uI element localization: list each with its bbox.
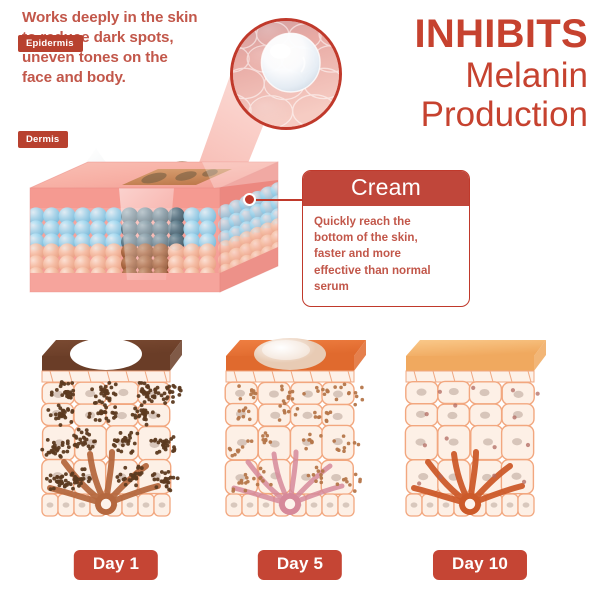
melanin-granule xyxy=(147,391,151,395)
melanin-granule xyxy=(66,407,70,411)
melanin-granule xyxy=(245,476,249,480)
melanin-granule xyxy=(252,396,256,400)
melanin-granule xyxy=(119,473,123,477)
melanin-granule xyxy=(114,411,118,415)
melanin-granule xyxy=(287,396,291,400)
melanin-granule xyxy=(252,389,256,393)
melanin-granule xyxy=(49,474,53,478)
melanin-granule xyxy=(342,449,346,453)
melanin-granule xyxy=(77,478,81,482)
melanin-granule xyxy=(63,484,67,488)
melanin-granule xyxy=(345,480,349,484)
melanin-granule xyxy=(133,442,137,446)
melanin-granule xyxy=(250,439,254,443)
melanin-granule xyxy=(256,483,260,487)
melanin-granule xyxy=(119,450,123,454)
melanin-granule xyxy=(307,474,311,478)
melanin-granule xyxy=(93,401,97,405)
melanin-granule xyxy=(171,449,175,453)
cream-callout-card: Cream Quickly reach the bottom of the sk… xyxy=(302,170,470,307)
melanin-granule xyxy=(282,409,286,413)
skin-layers-svg xyxy=(32,326,200,542)
melanin-granule xyxy=(445,436,449,440)
melanin-granule xyxy=(143,413,147,417)
melanin-granule xyxy=(171,400,175,404)
melanin-granule xyxy=(312,473,316,477)
melanin-granule xyxy=(143,400,147,404)
melanin-granule xyxy=(146,384,150,388)
melanin-granule xyxy=(46,408,50,412)
melanin-granule xyxy=(171,384,175,388)
day-panel: Day 1 xyxy=(32,326,200,542)
melanin-granule xyxy=(64,472,68,476)
melanin-granule xyxy=(52,487,56,491)
melanin-granule xyxy=(137,394,141,398)
melanin-granule xyxy=(321,469,325,473)
melanin-granule xyxy=(50,390,54,394)
melanin-granule xyxy=(342,434,346,438)
melanin-granule xyxy=(73,475,77,479)
skin-layer-illustration xyxy=(32,326,200,542)
melanin-granule xyxy=(238,409,242,413)
melanin-granule xyxy=(347,391,351,395)
melanin-granule xyxy=(280,388,284,392)
melanin-granule xyxy=(149,439,153,443)
melanin-granule xyxy=(319,481,323,485)
melanin-granule xyxy=(264,431,268,435)
melanin-granule xyxy=(316,389,320,393)
melanin-granule xyxy=(71,409,75,413)
melanin-granule xyxy=(321,388,325,392)
melanin-granule xyxy=(237,481,241,485)
melanin-granule xyxy=(71,487,75,491)
melanin-granule xyxy=(160,470,164,474)
melanin-granule xyxy=(522,480,526,484)
melanin-granule xyxy=(105,396,109,400)
melanin-granule xyxy=(308,433,312,437)
melanin-granule xyxy=(287,410,291,414)
melanin-granule xyxy=(332,439,336,443)
melanin-granule xyxy=(283,402,287,406)
intro-line-1: Works deeply in the skin xyxy=(22,8,232,28)
melanin-granule xyxy=(54,417,58,421)
headline-line-production: Production xyxy=(308,95,588,134)
melanin-granule xyxy=(171,390,175,394)
melanin-granule xyxy=(94,394,98,398)
melanin-granule xyxy=(353,489,357,493)
melanin-granule xyxy=(316,469,320,473)
melanin-granule xyxy=(99,411,103,415)
melanin-granule xyxy=(104,389,108,393)
melanin-granule xyxy=(57,404,61,408)
melanin-granule xyxy=(291,390,295,394)
melanin-granule xyxy=(138,473,142,477)
melanin-granule xyxy=(296,407,300,411)
melanin-granule xyxy=(343,446,347,450)
melanin-granule xyxy=(163,401,167,405)
melanin-granule xyxy=(156,414,160,418)
day-panel: Day 5 xyxy=(216,326,384,542)
melanin-granule xyxy=(526,443,530,447)
melanin-granule xyxy=(62,414,66,418)
melanin-granule xyxy=(82,477,86,481)
melanin-granule xyxy=(348,483,352,487)
melanin-granule xyxy=(87,444,91,448)
melanin-granule xyxy=(78,437,82,441)
melanin-granule xyxy=(109,386,113,390)
melanin-granule xyxy=(326,390,330,394)
melanin-granule xyxy=(336,482,340,486)
melanin-granule xyxy=(85,432,89,436)
melanin-granule xyxy=(140,387,144,391)
headline-line-inhibits: INHIBITS xyxy=(308,14,588,54)
melanin-granule xyxy=(323,392,327,396)
melanin-granule xyxy=(143,381,147,385)
melanin-granule xyxy=(87,415,91,419)
melanin-granule xyxy=(60,475,64,479)
melanin-granule xyxy=(165,397,169,401)
melanin-granule xyxy=(65,394,69,398)
melanin-granule xyxy=(471,386,475,390)
melanin-granule xyxy=(61,441,65,445)
melanin-granule xyxy=(67,445,71,449)
cream-body-line-1: Quickly reach the xyxy=(314,214,458,230)
melanin-granule xyxy=(119,431,123,435)
melanin-granule xyxy=(176,476,180,480)
melanin-granule xyxy=(140,403,144,407)
melanin-granule xyxy=(261,479,265,483)
melanin-granule xyxy=(54,412,58,416)
layer-label-dermis: Dermis xyxy=(18,131,68,148)
melanin-granule xyxy=(52,477,56,481)
melanin-granule xyxy=(353,441,357,445)
skin-layers-svg xyxy=(216,326,384,542)
melanin-granule xyxy=(177,393,181,397)
melanin-granule xyxy=(152,394,156,398)
melanin-granule xyxy=(104,385,108,389)
melanin-granule xyxy=(70,473,74,477)
melanin-granule xyxy=(241,445,245,449)
melanin-granule xyxy=(165,485,169,489)
melanin-granule xyxy=(493,445,497,449)
melanin-granule xyxy=(162,446,166,450)
melanin-granule xyxy=(49,413,53,417)
melanin-granule xyxy=(439,474,443,478)
melanin-granule xyxy=(319,473,323,477)
melanin-granule xyxy=(294,413,298,417)
melanin-granule xyxy=(154,485,158,489)
melanin-granule xyxy=(325,411,329,415)
melanin-granule xyxy=(69,420,73,424)
melanin-granule xyxy=(269,483,273,487)
melanin-granule xyxy=(417,481,421,485)
melanin-granule xyxy=(121,443,125,447)
melanin-granule xyxy=(98,418,102,422)
melanin-granule xyxy=(56,475,60,479)
melanin-granule xyxy=(94,418,98,422)
melanin-granule xyxy=(151,410,155,414)
melanin-granule xyxy=(247,410,251,414)
melanin-granule xyxy=(536,392,540,396)
melanin-granule xyxy=(77,428,81,432)
melanin-granule xyxy=(66,442,70,446)
melanin-granule xyxy=(134,483,138,487)
melanin-granule xyxy=(138,414,142,418)
melanin-granule xyxy=(269,440,273,444)
melanin-granule xyxy=(90,387,94,391)
melanin-granule xyxy=(107,381,111,385)
melanin-granule xyxy=(93,439,97,443)
melanin-granule xyxy=(357,443,361,447)
melanin-granule xyxy=(244,473,248,477)
melanin-granule xyxy=(163,471,167,475)
melanin-granule xyxy=(153,439,157,443)
melanin-granule xyxy=(230,454,234,458)
melanin-granule xyxy=(72,434,76,438)
melanin-granule xyxy=(85,428,89,432)
melanin-granule xyxy=(140,466,144,470)
melanin-granule xyxy=(423,443,427,447)
melanin-granule xyxy=(164,478,168,482)
melanin-granule xyxy=(65,450,69,454)
melanin-granule xyxy=(244,489,248,493)
melanin-granule xyxy=(166,387,170,391)
melanin-granule xyxy=(160,393,164,397)
melanin-granule xyxy=(142,409,146,413)
melanin-granule xyxy=(339,386,343,390)
penetration-column xyxy=(119,188,174,280)
melanin-granule xyxy=(360,386,364,390)
melanin-granule xyxy=(259,476,263,480)
melanin-granule xyxy=(145,423,149,427)
melanin-granule xyxy=(248,417,252,421)
melanin-granule xyxy=(70,381,74,385)
melanin-granule xyxy=(261,434,265,438)
melanin-granule xyxy=(79,441,83,445)
melanin-granule xyxy=(156,386,160,390)
melanin-granule xyxy=(135,432,139,436)
magnifier-circle-icon xyxy=(230,18,342,130)
melanin-granule xyxy=(264,439,268,443)
skin-layer-illustration xyxy=(396,326,564,542)
melanin-granule xyxy=(304,447,308,451)
cream-body-line-3: faster and more xyxy=(314,246,458,262)
melanin-granule xyxy=(320,476,324,480)
melanin-granule xyxy=(168,489,172,493)
melanin-granule xyxy=(302,438,306,442)
melanin-granule xyxy=(99,385,103,389)
melanin-granule xyxy=(123,477,127,481)
melanin-granule xyxy=(114,393,118,397)
melanin-granule xyxy=(83,467,87,471)
melanin-granule xyxy=(313,411,317,415)
melanin-granule xyxy=(121,438,125,442)
melanin-granule xyxy=(129,451,133,455)
melanin-granule xyxy=(361,398,365,402)
melanin-granule xyxy=(156,478,160,482)
melanin-granule xyxy=(358,478,362,482)
melanin-granule xyxy=(157,441,161,445)
melanin-granule xyxy=(52,446,56,450)
melanin-granule xyxy=(131,476,135,480)
melanin-granule xyxy=(117,479,121,483)
melanin-granule xyxy=(128,478,132,482)
skin-layer-illustration xyxy=(216,326,384,542)
magnified-cells-illustration xyxy=(233,21,339,127)
melanin-granule xyxy=(153,478,157,482)
melanin-granule xyxy=(244,481,248,485)
day-badge: Day 1 xyxy=(74,550,158,580)
melanin-granule xyxy=(242,415,246,419)
melanin-granule xyxy=(354,473,358,477)
melanin-granule xyxy=(325,419,329,423)
melanin-granule xyxy=(511,388,515,392)
melanin-granule xyxy=(115,475,119,479)
melanin-granule xyxy=(103,403,107,407)
melanin-granule xyxy=(236,417,240,421)
melanin-granule xyxy=(62,450,66,454)
melanin-granule xyxy=(60,481,64,485)
melanin-granule xyxy=(59,423,63,427)
melanin-granule xyxy=(116,439,120,443)
melanin-granule xyxy=(172,435,176,439)
melanin-granule xyxy=(114,382,118,386)
melanin-granule xyxy=(310,439,314,443)
melanin-granule xyxy=(112,443,116,447)
melanin-granule xyxy=(113,405,117,409)
melanin-granule xyxy=(302,392,306,396)
melanin-granule xyxy=(329,410,333,414)
melanin-granule xyxy=(425,412,429,416)
melanin-granule xyxy=(88,477,92,481)
melanin-granule xyxy=(280,384,284,388)
melanin-granule xyxy=(64,390,68,394)
melanin-granule xyxy=(164,442,168,446)
melanin-granule xyxy=(104,417,108,421)
melanin-granule xyxy=(112,416,116,420)
melanin-granule xyxy=(49,487,53,491)
melanin-granule xyxy=(314,415,318,419)
melanin-granule xyxy=(318,415,322,419)
melanin-granule xyxy=(155,451,159,455)
melanin-granule xyxy=(147,398,151,402)
melanin-granule xyxy=(314,479,318,483)
skin-layers-svg xyxy=(396,326,564,542)
melanin-granule xyxy=(347,442,351,446)
melanin-granule xyxy=(60,393,64,397)
melanin-granule xyxy=(56,480,60,484)
intro-line-4: face and body. xyxy=(22,68,232,88)
melanin-granule xyxy=(438,390,442,394)
melanin-granule xyxy=(167,470,171,474)
melanin-granule xyxy=(239,397,243,401)
melanin-granule xyxy=(252,477,256,481)
melanin-granule xyxy=(315,466,319,470)
melanin-granule xyxy=(249,393,253,397)
melanin-granule xyxy=(229,448,233,452)
melanin-granule xyxy=(354,391,358,395)
melanin-granule xyxy=(236,449,240,453)
melanin-granule xyxy=(142,417,146,421)
melanin-granule xyxy=(82,436,86,440)
melanin-granule xyxy=(246,439,250,443)
connector-line xyxy=(254,199,306,201)
melanin-granule xyxy=(81,473,85,477)
melanin-granule xyxy=(135,409,139,413)
melanin-granule xyxy=(145,395,149,399)
connector-dot-icon xyxy=(243,193,256,206)
melanin-granule xyxy=(153,472,157,476)
melanin-granule xyxy=(64,479,68,483)
melanin-granule xyxy=(55,388,59,392)
melanin-granule xyxy=(100,401,104,405)
melanin-granule xyxy=(77,484,81,488)
melanin-granule xyxy=(262,470,266,474)
melanin-granule xyxy=(178,387,182,391)
melanin-granule xyxy=(291,397,295,401)
melanin-granule xyxy=(315,386,319,390)
melanin-granule xyxy=(237,384,241,388)
melanin-granule xyxy=(62,409,66,413)
melanin-granule xyxy=(259,467,263,471)
melanin-granule xyxy=(171,395,175,399)
cream-body-line-4: effective than normal xyxy=(314,263,458,279)
cream-card-title: Cream xyxy=(303,171,469,206)
melanin-granule xyxy=(88,412,92,416)
page-title: INHIBITS Melanin Production xyxy=(308,14,588,134)
melanin-granule xyxy=(83,442,87,446)
melanin-granule xyxy=(60,380,64,384)
cream-body-line-5: serum xyxy=(314,279,458,295)
melanin-granule xyxy=(512,415,516,419)
melanin-granule xyxy=(453,403,457,407)
skin-cross-section-block xyxy=(14,140,294,315)
melanin-granule xyxy=(71,389,75,393)
headline-line-melanin: Melanin xyxy=(308,56,588,95)
layer-label-epidermis: Epidermis xyxy=(18,35,83,52)
melanin-granule xyxy=(129,431,133,435)
melanin-granule xyxy=(333,385,337,389)
melanin-granule xyxy=(319,434,323,438)
melanin-granule xyxy=(157,391,161,395)
panel-top-surface xyxy=(406,340,546,356)
melanin-granule xyxy=(59,384,63,388)
day-badge: Day 10 xyxy=(433,550,527,580)
melanin-granule xyxy=(80,430,84,434)
melanin-granule xyxy=(278,418,282,422)
melanin-granule xyxy=(58,454,62,458)
cream-card-body: Quickly reach the bottom of the skin, fa… xyxy=(303,206,469,306)
melanin-granule xyxy=(46,438,50,442)
melanin-granule xyxy=(40,448,44,452)
melanin-granule xyxy=(335,447,339,451)
melanin-granule xyxy=(45,477,49,481)
melanin-granule xyxy=(242,408,246,412)
melanin-granule xyxy=(131,413,135,417)
melanin-granule xyxy=(335,398,339,402)
cream-body-line-2: bottom of the skin, xyxy=(314,230,458,246)
melanin-granule xyxy=(124,483,128,487)
melanin-granule xyxy=(278,404,282,408)
infographic-root: Works deeply in the skin to reduce dark … xyxy=(0,0,600,600)
melanin-granule xyxy=(66,382,70,386)
melanin-granule xyxy=(355,395,359,399)
melanin-granule xyxy=(492,474,496,478)
melanin-granule xyxy=(136,466,140,470)
melanin-granule xyxy=(353,403,357,407)
melanin-granule xyxy=(71,393,75,397)
melanin-granule xyxy=(45,453,49,457)
